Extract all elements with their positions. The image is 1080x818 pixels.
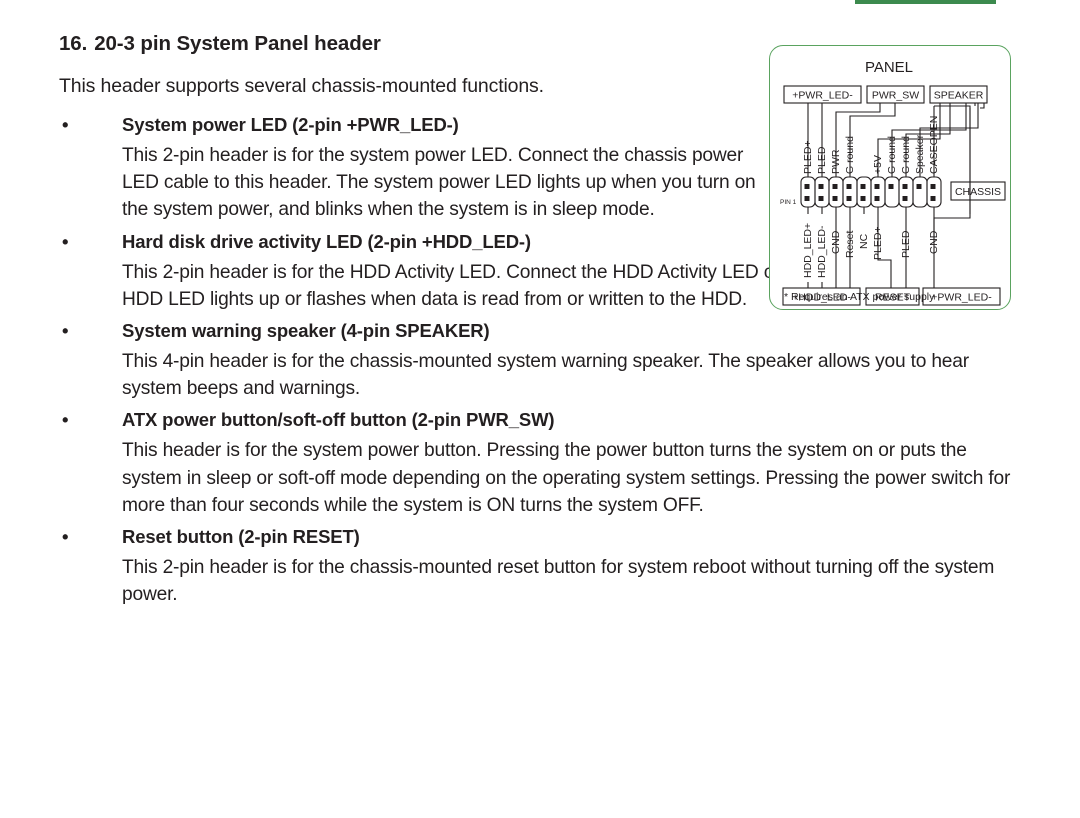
bottom-pin-label-2: HDD_LED-: [816, 225, 828, 278]
bullet-dot-icon: •: [62, 225, 72, 259]
pin-cell-1: [801, 177, 815, 207]
pin-cell-7: [885, 177, 899, 207]
bullet-item-reset-button: •Reset button (2-pin RESET) This 2-pin h…: [0, 520, 1080, 608]
bullet-dot-icon: •: [62, 403, 72, 437]
bullet-item-system-warning-speaker: •System warning speaker (4-pin SPEAKER) …: [0, 314, 1080, 402]
bullet-item-atx-power-button: •ATX power button/soft-off button (2-pin…: [0, 403, 1080, 519]
bullet-heading: •Reset button (2-pin RESET): [0, 520, 1080, 554]
bullet-body-text: This 2-pin header is for the chassis-mou…: [0, 554, 1072, 608]
pin1-label: PIN 1: [780, 199, 797, 206]
pin-cell-2: [815, 177, 829, 207]
pin-cell-6: [871, 177, 885, 207]
bullet-heading-text: ATX power button/soft-off button (2-pin …: [122, 409, 554, 430]
bullet-heading-text: System power LED (2-pin +PWR_LED-): [122, 114, 459, 135]
top-box-pwr-led-label: +PWR_LED-: [792, 90, 853, 102]
pin-squares-top: [805, 184, 936, 189]
pin-header-block: [801, 177, 941, 207]
bullet-body-text: This header is for the system power butt…: [0, 437, 1072, 519]
top-pin-label-10: CASEOPEN: [928, 116, 940, 174]
bottom-box-pwr-led-label: +PWR_LED-: [931, 292, 992, 304]
top-pin-label-3: PWR: [830, 149, 842, 174]
top-pin-labels: PLED+ PLED- PWR G round +5V G round G ro…: [802, 116, 940, 174]
top-pin-label-9: Speaker: [914, 134, 926, 174]
bullet-body-text: This 2-pin header is for the system powe…: [0, 142, 822, 224]
bullet-heading: •System warning speaker (4-pin SPEAKER): [0, 314, 1080, 348]
document-page: 16.20-3 pin System Panel header This hea…: [0, 0, 1080, 818]
section-title-text: 20-3 pin System Panel header: [94, 32, 381, 55]
bullet-heading-text: Reset button (2-pin RESET): [122, 526, 360, 547]
pin-squares-bottom: [805, 196, 936, 201]
top-pin-label-1: PLED+: [802, 140, 814, 174]
diagram-title: PANEL: [865, 59, 913, 76]
bullet-body-text: This 4-pin header is for the chassis-mou…: [0, 348, 1072, 402]
top-pin-label-2: PLED-: [816, 143, 828, 174]
top-box-pwr-sw-label: PWR_SW: [872, 90, 919, 102]
pin-cell-10: [927, 177, 941, 207]
intro-paragraph: This header supports several chassis-mou…: [59, 75, 544, 98]
bottom-pin-labels: HDD_LED+ HDD_LED- GND Reset NC PLED+ PLE…: [802, 223, 940, 278]
bullet-dot-icon: •: [62, 108, 72, 142]
bullet-heading-text: System warning speaker (4-pin SPEAKER): [122, 320, 490, 341]
bullet-dot-icon: •: [62, 314, 72, 348]
top-pin-label-7: G round: [886, 136, 898, 174]
chassis-box-label: CHASSIS: [955, 186, 1001, 198]
system-panel-diagram: PANEL +PWR_LED- PWR_SW SPEAKER: [769, 45, 1011, 310]
top-box-speaker-label: SPEAKER: [934, 90, 984, 102]
top-pin-label-6: +5V: [872, 155, 884, 174]
diagram-footnote: * Requires an ATX power supply: [784, 291, 934, 303]
bullet-heading: •ATX power button/soft-off button (2-pin…: [0, 403, 1080, 437]
pin-cell-3: [829, 177, 843, 207]
bottom-pin-label-1: HDD_LED+: [802, 223, 814, 278]
panel-diagram-svg: PANEL +PWR_LED- PWR_SW SPEAKER: [770, 46, 1009, 308]
top-pin-label-8: G round: [900, 136, 912, 174]
bottom-pin-label-5: NC: [858, 233, 870, 249]
bullet-dot-icon: •: [62, 520, 72, 554]
bullet-heading-text: Hard disk drive activity LED (2-pin +HDD…: [122, 231, 531, 252]
section-number: 16.: [59, 32, 87, 55]
pin-cell-4: [843, 177, 857, 207]
top-pin-label-4: G round: [844, 136, 856, 174]
pin-cell-8: [899, 177, 913, 207]
page-title: 16.20-3 pin System Panel header: [59, 32, 381, 56]
pin-cell-5: [857, 177, 871, 207]
pin-cell-9: [913, 177, 927, 207]
